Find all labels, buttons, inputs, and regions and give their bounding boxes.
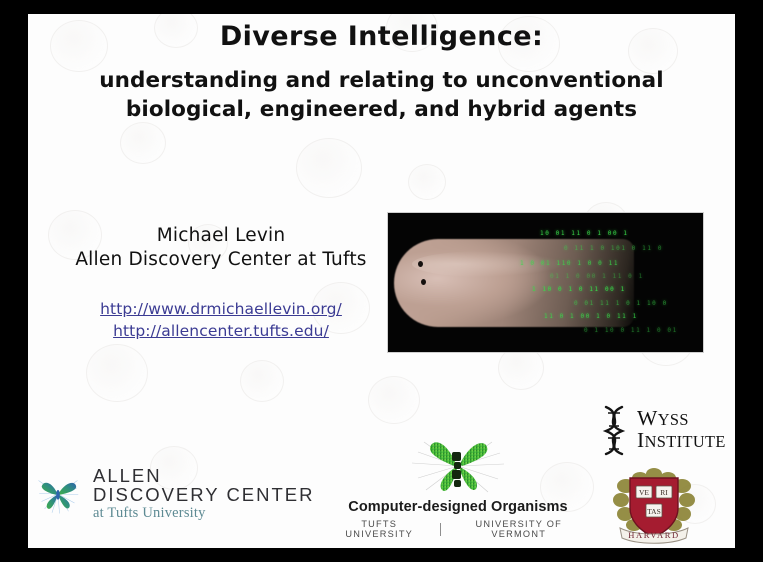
planarian-eyespot-left [418, 261, 423, 267]
cdo-logo-title: Computer-designed Organisms [328, 499, 588, 515]
shield-book-ve: VE [639, 488, 649, 497]
allen-butterfly-icon [34, 470, 82, 518]
shield-book-ri: RI [660, 488, 668, 497]
cdo-logo-schools: TUFTS UNIVERSITY UNIVERSITY OF VERMONT [328, 519, 588, 539]
cdo-school-right: UNIVERSITY OF VERMONT [449, 519, 588, 539]
link-allencenter-tufts[interactable]: http://allencenter.tufts.edu/ [56, 320, 386, 342]
code-row: 10 01 11 0 1 00 1 [540, 230, 629, 237]
xenobot-icon [404, 432, 512, 498]
dna-helix-icon [600, 404, 630, 456]
author-name: Michael Levin [56, 224, 386, 248]
slide-canvas: Diverse Intelligence: understanding and … [28, 14, 735, 548]
links-block: http://www.drmichaellevin.org/ http://al… [56, 298, 386, 342]
allen-logo-text: ALLEN DISCOVERY CENTER at Tufts Universi… [93, 466, 315, 522]
page-subtitle-line-2: biological, engineered, and hybrid agent… [28, 95, 735, 125]
harvard-university-shield: VE RI TAS HARVARD [606, 464, 702, 548]
author-block: Michael Levin Allen Discovery Center at … [56, 224, 386, 342]
planarian-highlight [412, 251, 562, 277]
shield-book-tas: TAS [647, 507, 661, 516]
author-affiliation: Allen Discovery Center at Tufts [56, 248, 386, 272]
planarian-figure: 10 01 11 0 1 00 1 0 11 1 0 101 0 11 0 1 … [387, 212, 704, 353]
title-block: Diverse Intelligence: understanding and … [28, 22, 735, 125]
page-subtitle: understanding and relating to unconventi… [28, 66, 735, 125]
allen-logo-line-1: ALLEN [93, 466, 315, 485]
allen-logo-line-3: at Tufts University [93, 506, 315, 521]
allen-logo-line-2: DISCOVERY CENTER [93, 485, 315, 504]
cdo-divider [440, 523, 441, 536]
page-title: Diverse Intelligence: [28, 22, 735, 52]
link-drmichaellevin[interactable]: http://www.drmichaellevin.org/ [56, 298, 386, 320]
code-row: 0 1 10 0 11 1 0 01 [584, 327, 678, 334]
computer-designed-organisms-logo: Computer-designed Organisms TUFTS UNIVER… [328, 432, 588, 539]
allen-discovery-center-logo: ALLEN DISCOVERY CENTER at Tufts Universi… [34, 466, 315, 522]
wyss-logo-text: WYSS INSTITUTE [637, 408, 726, 452]
cdo-school-left: TUFTS UNIVERSITY [328, 519, 431, 539]
wyss-logo-line-2: INSTITUTE [637, 430, 726, 452]
planarian-eyespot-right [421, 279, 426, 285]
page-subtitle-line-1: understanding and relating to unconventi… [28, 66, 735, 96]
harvard-banner-text: HARVARD [628, 530, 679, 540]
slide-letterbox-frame: Diverse Intelligence: understanding and … [0, 0, 763, 562]
wyss-institute-logo: WYSS INSTITUTE [600, 404, 726, 456]
wyss-logo-line-1: WYSS [637, 408, 726, 430]
harvard-shield-icon: VE RI TAS HARVARD [606, 464, 702, 546]
